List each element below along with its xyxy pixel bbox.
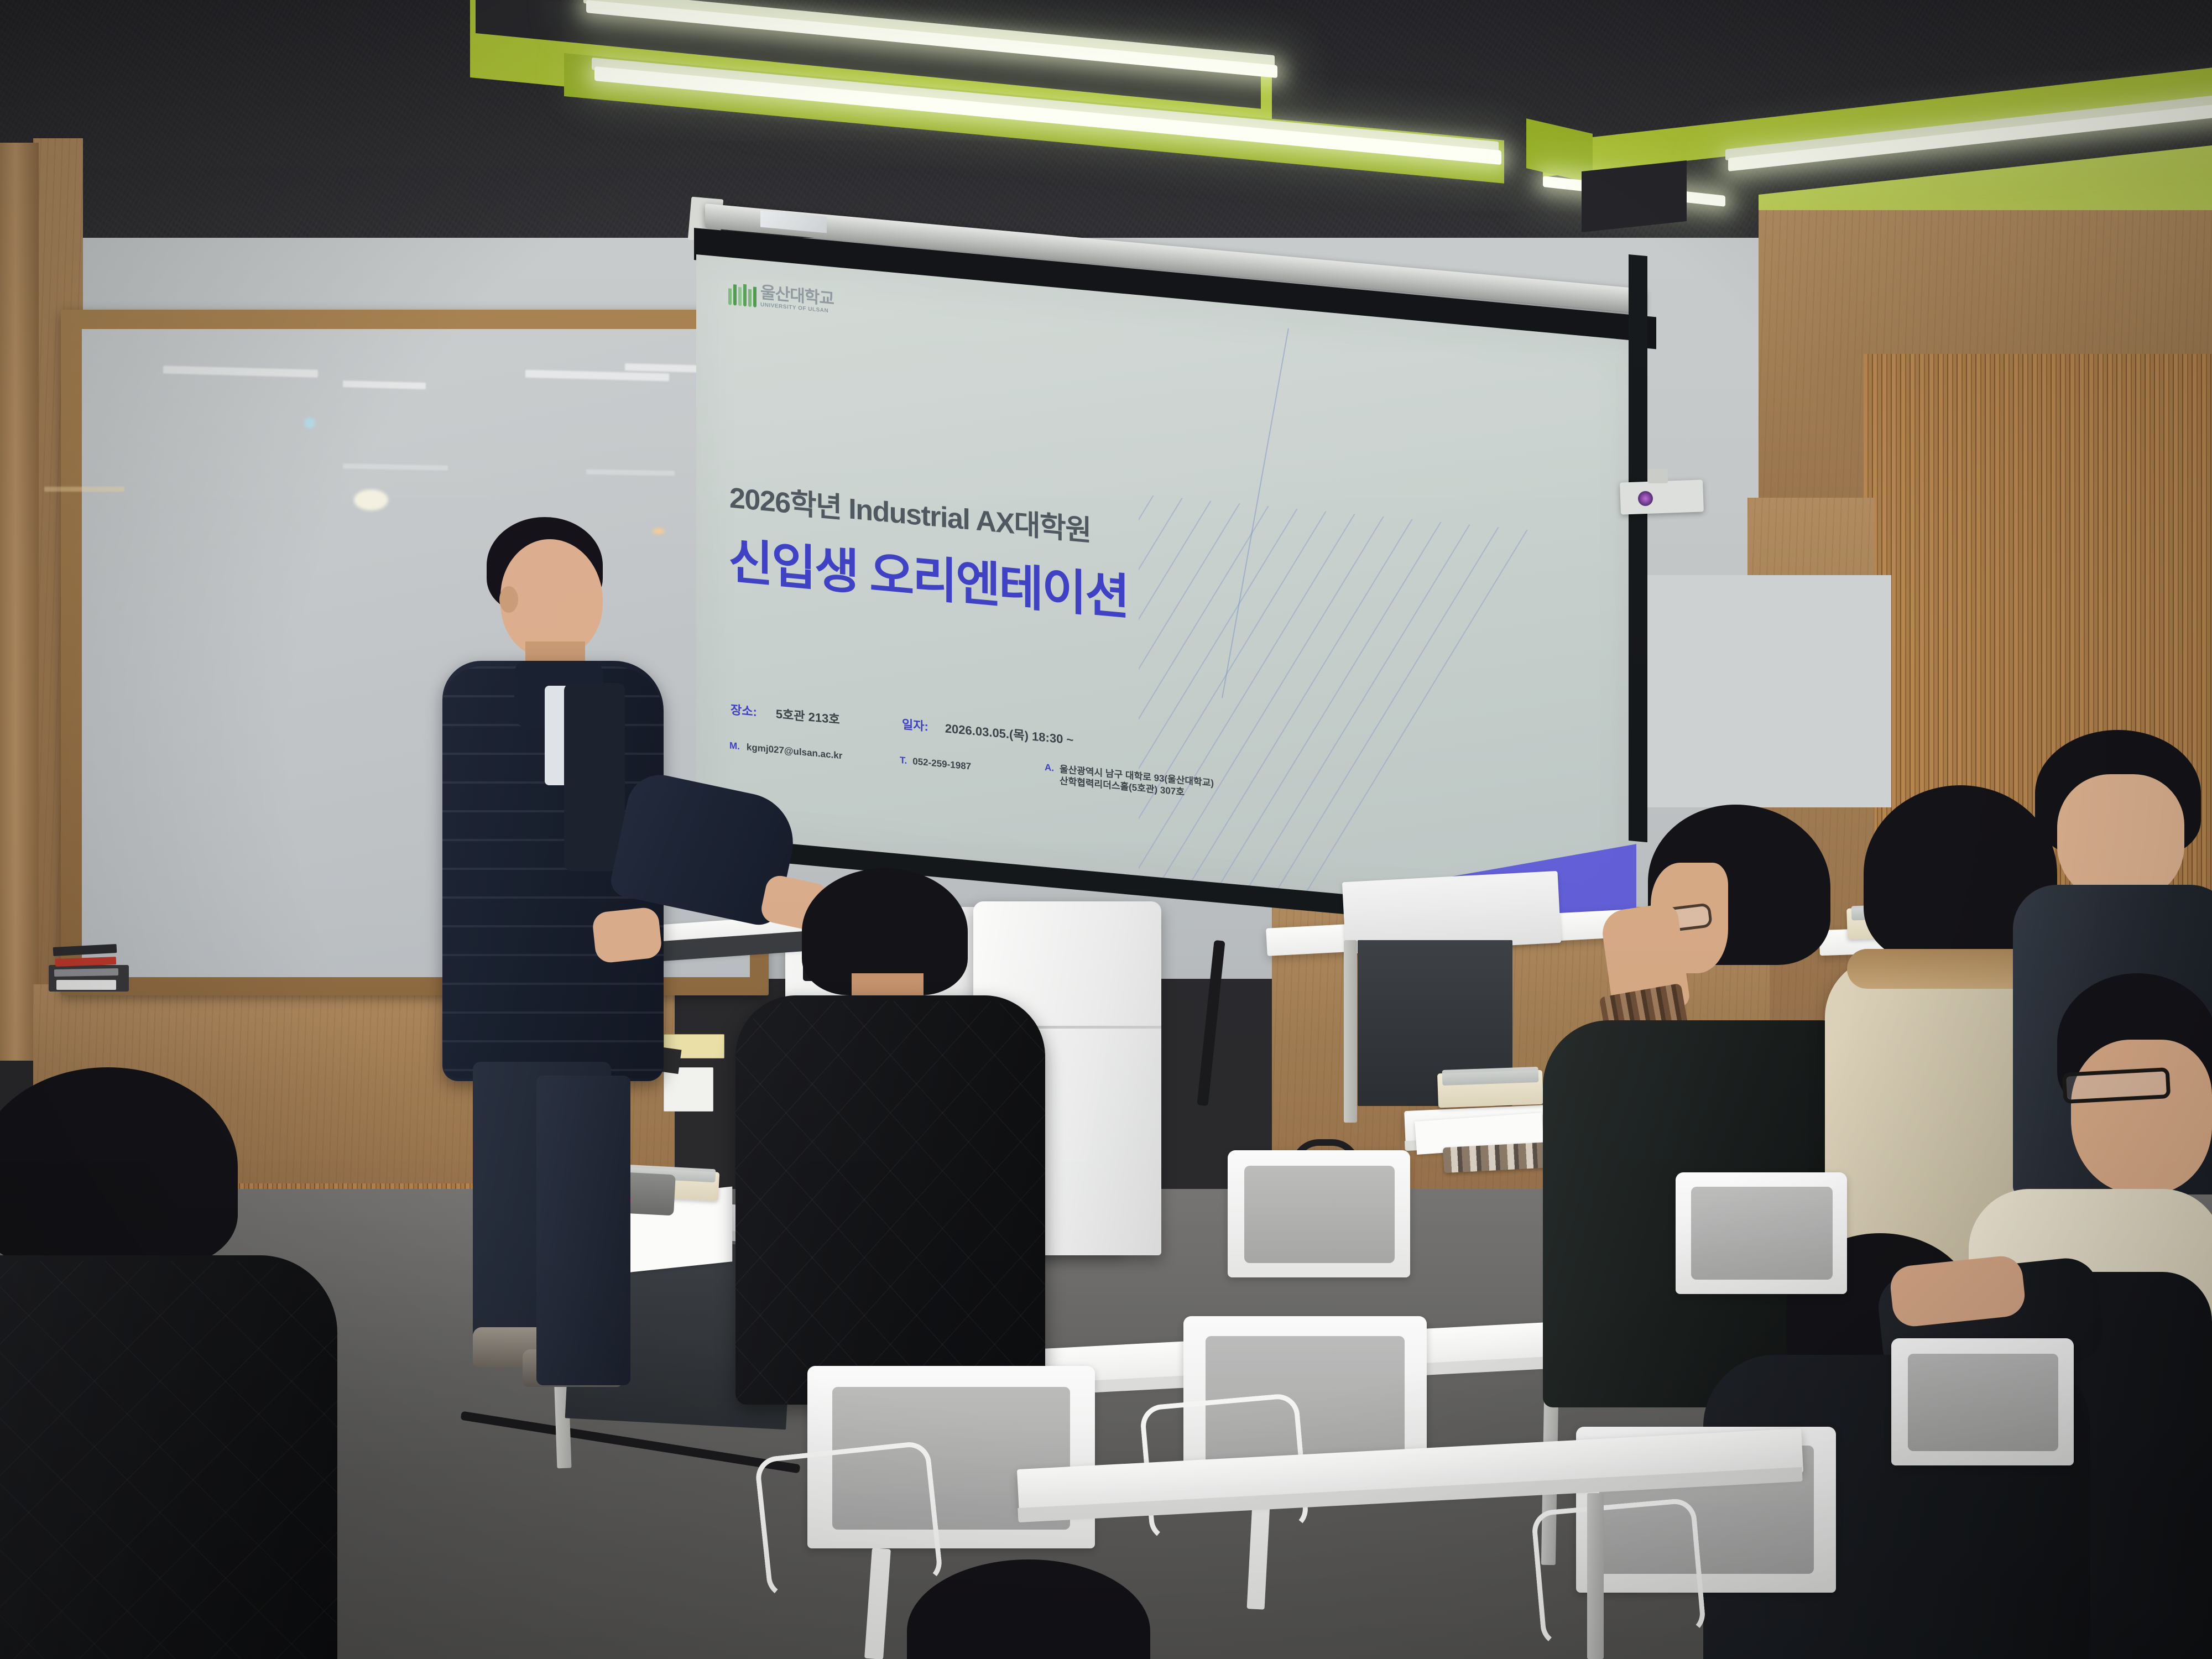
contact-address-key: A. bbox=[1045, 762, 1054, 774]
slide-contact-mail: M. kgmj027@ulsan.ac.kr bbox=[729, 740, 842, 762]
lecture-hall-photo: 울산대학교 UNIVERSITY OF ULSAN 2026학년 Industr… bbox=[0, 0, 2212, 1659]
desk-leg-backrow-1 bbox=[1344, 940, 1357, 1123]
meta-date-key: 일자: bbox=[902, 714, 928, 734]
contact-tel-value: 052-259-1987 bbox=[912, 755, 971, 773]
chair-backright-1[interactable] bbox=[1206, 1150, 1438, 1349]
projection-screen: 울산대학교 UNIVERSITY OF ULSAN 2026학년 Industr… bbox=[694, 194, 1656, 907]
chair-backright-2-mesh bbox=[1691, 1187, 1833, 1280]
podium-info-label bbox=[664, 1067, 713, 1112]
contact-mail-key: M. bbox=[729, 740, 740, 753]
slide-meta-venue: 장소: 5호관 213호 bbox=[731, 700, 840, 728]
attendee-center-quilt bbox=[735, 1001, 1045, 1405]
chair-frontright-armrest bbox=[1531, 1497, 1707, 1648]
whiteboard-spot-small bbox=[304, 418, 315, 429]
attendee-bottomright-face bbox=[2071, 1040, 2212, 1194]
contact-mail-value: kgmj027@ulsan.ac.kr bbox=[747, 741, 842, 761]
presenter-ear bbox=[499, 586, 518, 613]
desk-leg-foreground-right bbox=[1587, 1493, 1604, 1659]
whiteboard-downlight-reflection bbox=[354, 489, 388, 510]
eraser[interactable] bbox=[56, 980, 116, 990]
chair-backright-1-mesh bbox=[1244, 1166, 1395, 1263]
screen-right-edge bbox=[1629, 254, 1647, 842]
university-logo: 울산대학교 UNIVERSITY OF ULSAN bbox=[728, 281, 834, 315]
whiteboard-spot-small-2 bbox=[653, 528, 665, 534]
slide-meta-date: 일자: 2026.03.05.(목) 18:30 ~ bbox=[902, 714, 1073, 748]
chair-center-armrest bbox=[754, 1440, 943, 1600]
meta-venue-value: 5호관 213호 bbox=[776, 704, 840, 728]
wall-wood-trim-left bbox=[0, 143, 39, 1061]
contact-tel-key: T. bbox=[900, 755, 907, 766]
projector-mount bbox=[1648, 469, 1668, 483]
projector-lens-icon bbox=[1638, 491, 1653, 506]
wall-plaster-right-upper bbox=[1631, 575, 1891, 807]
meta-venue-key: 장소: bbox=[731, 700, 757, 720]
ceiling-projector bbox=[1620, 479, 1704, 514]
attendee-standing-legs bbox=[536, 1076, 630, 1385]
presenter-inner-jacket bbox=[564, 683, 625, 871]
marker-blue[interactable] bbox=[54, 968, 118, 977]
chair-backright-3-mesh bbox=[1908, 1354, 2058, 1451]
chair-backright-2[interactable] bbox=[1653, 1172, 1875, 1360]
chair-backright-3[interactable] bbox=[1869, 1338, 2107, 1537]
slide-surface[interactable]: 울산대학교 UNIVERSITY OF ULSAN 2026학년 Industr… bbox=[696, 254, 1636, 927]
whiteboard-reflection-7 bbox=[44, 487, 124, 492]
slide-contact-tel: T. 052-259-1987 bbox=[900, 754, 971, 773]
attendee-bottomright-glasses-icon bbox=[2062, 1067, 2171, 1104]
meta-date-value: 2026.03.05.(목) 18:30 ~ bbox=[945, 718, 1073, 748]
attendee-foreground-left-quilt bbox=[0, 1261, 337, 1659]
attendee-suit-face bbox=[2057, 774, 2184, 901]
logo-bars-icon bbox=[728, 283, 757, 307]
presenter-left-hand bbox=[592, 906, 663, 964]
